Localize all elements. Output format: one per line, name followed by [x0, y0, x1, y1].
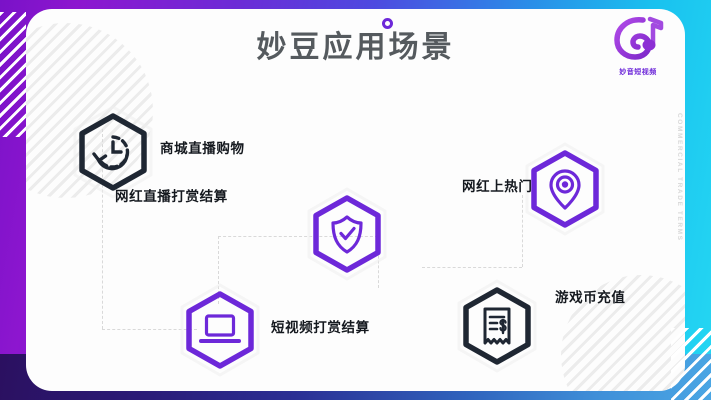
brand-logo: 妙音短视频: [607, 15, 669, 77]
node-label: 游戏币充值: [555, 286, 626, 312]
node-label: 短视频打赏结算: [271, 316, 370, 342]
decorative-stripes-left-edge: [0, 12, 26, 137]
connector-right-horizontal: [422, 267, 522, 268]
music-note-logo-icon: [612, 15, 664, 61]
page-title: 妙豆应用场景: [26, 31, 685, 64]
title-accent-dot-icon: [382, 18, 393, 29]
hexagon-frame-purple: [311, 195, 383, 273]
location-pin-icon: [551, 171, 579, 208]
node-labels-short-video: 短视频打赏结算: [271, 316, 370, 342]
hexagon-frame-purple: [184, 291, 256, 369]
node-labels-game-coin: 游戏币充值: [555, 286, 626, 312]
receipt-dollar-icon: [485, 309, 509, 343]
laptop-icon: [201, 316, 239, 341]
node-game-coin-topup[interactable]: 游戏币充值: [454, 279, 540, 373]
hexagon-frame-dark: [77, 113, 149, 191]
slide-content-card: 妙豆应用场景 妙音短视频 COMMERCIAL TRADE TERMS: [26, 9, 685, 391]
node-short-video-reward[interactable]: 短视频打赏结算: [177, 283, 263, 377]
shield-check-icon: [333, 217, 361, 252]
slide-root: 妙豆应用场景 妙音短视频 COMMERCIAL TRADE TERMS: [0, 0, 711, 400]
node-influencer-trending[interactable]: 网红上热门: [522, 142, 608, 236]
node-labels-mall: 商城直播购物: [160, 137, 245, 163]
node-labels-mall-2: 网红直播打赏结算: [115, 185, 228, 211]
node-shield-center[interactable]: [304, 187, 390, 281]
node-label: 网红直播打赏结算: [115, 185, 228, 211]
history-clock-icon: [94, 137, 127, 169]
side-caption: COMMERCIAL TRADE TERMS: [676, 113, 683, 242]
node-labels-trending: 网红上热门: [462, 175, 533, 201]
node-label: 商城直播购物: [160, 137, 245, 163]
brand-name: 妙音短视频: [607, 67, 669, 77]
node-label: 网红上热门: [462, 175, 533, 201]
page-title-block: 妙豆应用场景: [26, 31, 685, 64]
hexagon-frame-dark: [461, 287, 533, 365]
hexagon-frame-purple: [529, 150, 601, 228]
node-mall-live-shopping[interactable]: 商城直播购物 网红直播打赏结算: [70, 105, 156, 199]
